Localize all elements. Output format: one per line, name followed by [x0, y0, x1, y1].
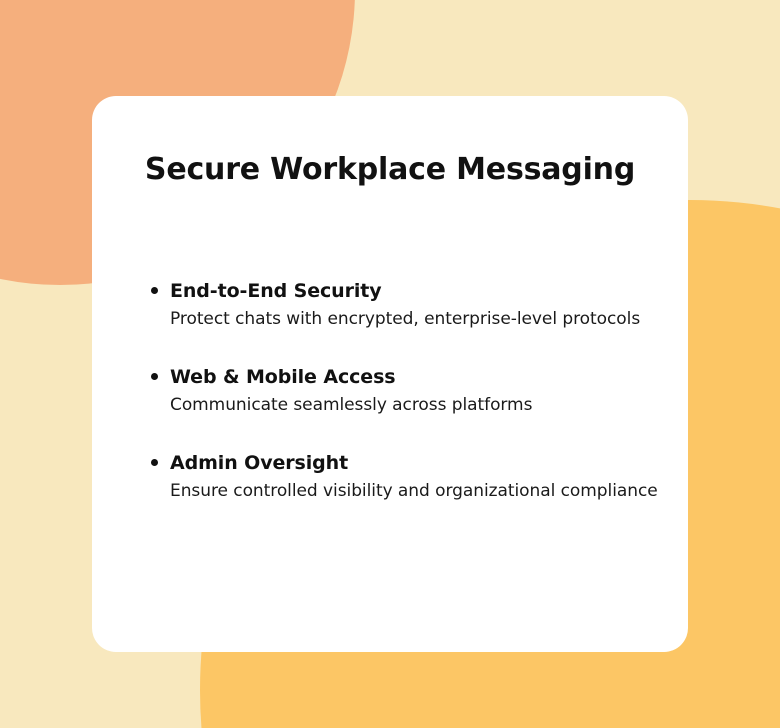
- feature-heading: Web & Mobile Access: [170, 364, 688, 390]
- feature-heading: Admin Oversight: [170, 450, 688, 476]
- feature-description: Ensure controlled visibility and organiz…: [170, 478, 688, 504]
- slide-canvas: Secure Workplace Messaging End-to-End Se…: [0, 0, 780, 728]
- card-title: Secure Workplace Messaging: [92, 152, 688, 188]
- feature-description: Protect chats with encrypted, enterprise…: [170, 306, 688, 332]
- bullet-dot-icon: [151, 373, 158, 380]
- feature-list: End-to-End Security Protect chats with e…: [122, 278, 688, 504]
- feature-item-web-mobile-access: Web & Mobile Access Communicate seamless…: [122, 364, 688, 418]
- feature-description: Communicate seamlessly across platforms: [170, 392, 688, 418]
- bullet-dot-icon: [151, 459, 158, 466]
- content-card: Secure Workplace Messaging End-to-End Se…: [92, 96, 688, 652]
- feature-heading: End-to-End Security: [170, 278, 688, 304]
- bullet-dot-icon: [151, 287, 158, 294]
- feature-item-end-to-end-security: End-to-End Security Protect chats with e…: [122, 278, 688, 332]
- feature-item-admin-oversight: Admin Oversight Ensure controlled visibi…: [122, 450, 688, 504]
